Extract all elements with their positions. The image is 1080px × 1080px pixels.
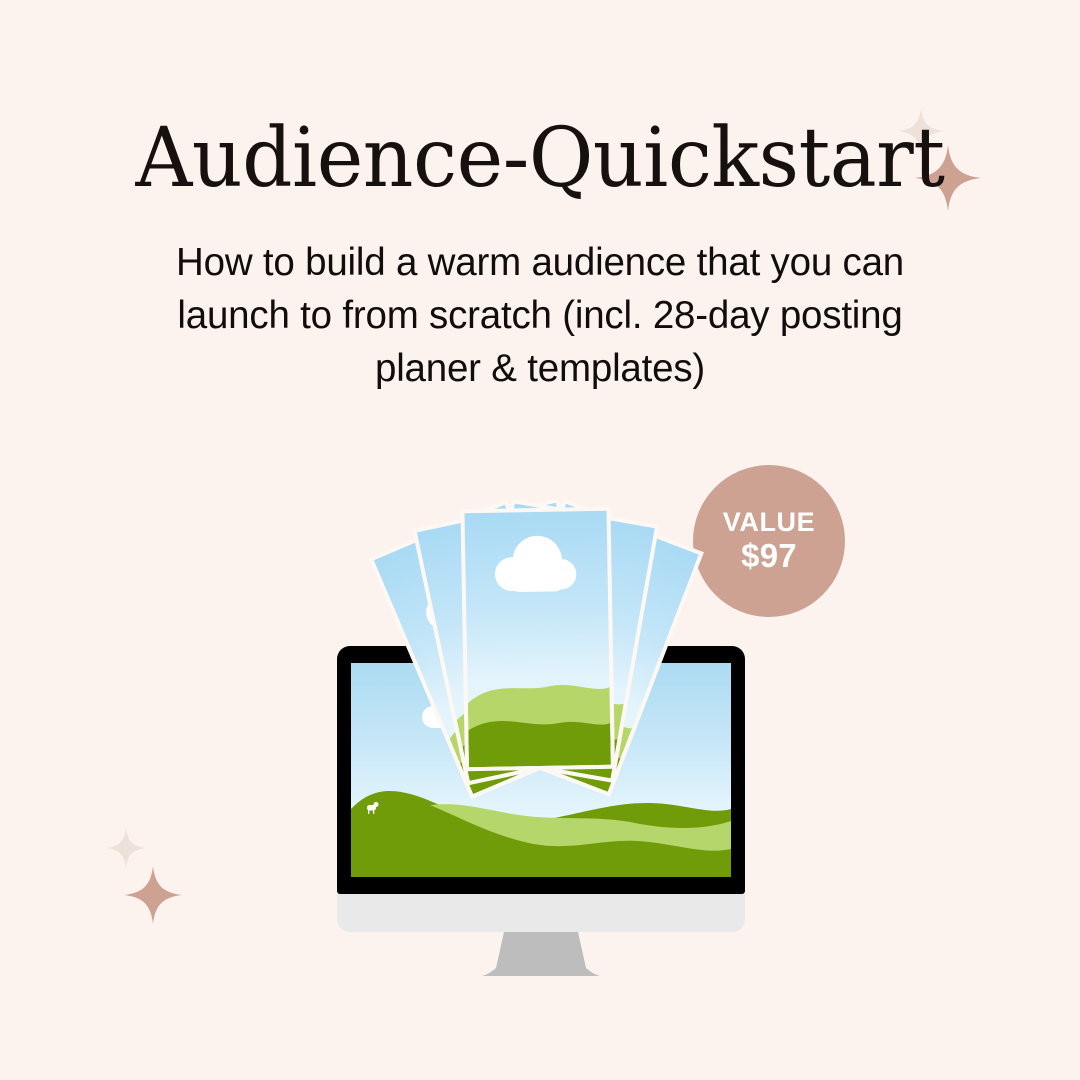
value-badge-amount: $97: [741, 538, 797, 575]
photo-card: [460, 507, 615, 772]
sheep-detail: [367, 802, 379, 814]
poster-canvas: Audience-Quickstart How to build a warm …: [0, 0, 1080, 1080]
value-badge: VALUE $97: [693, 465, 845, 617]
monitor-chin: [337, 894, 745, 932]
photo-card-scene: [465, 511, 611, 767]
monitor-stand: [482, 932, 600, 978]
product-illustration: VALUE $97: [0, 0, 1080, 1080]
value-badge-label: VALUE: [723, 507, 816, 537]
